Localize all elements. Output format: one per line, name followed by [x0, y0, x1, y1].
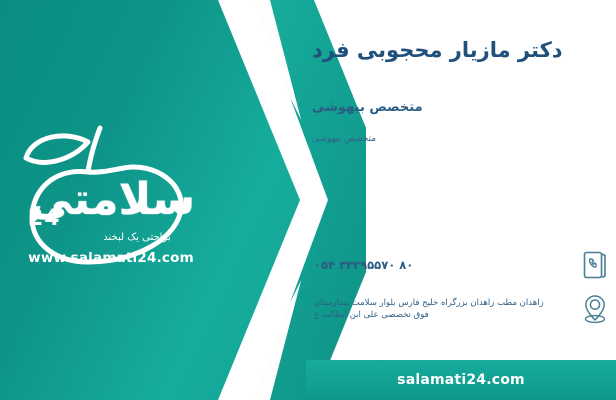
footer-website[interactable]: salamati24.com	[397, 372, 525, 388]
address-line-2: فوق تخصصی علی ابن ابطالب ع	[314, 309, 572, 322]
phone-number: ۸۰ ۳۳۲۹۵۵۷۰ ۰۵۴	[314, 258, 572, 272]
logo-tagline: براحتی یک لبخند	[62, 232, 212, 243]
contact-row-address[interactable]: زاهدان مطب زاهدان بزرگراه خلیج فارس بلوا…	[300, 292, 616, 326]
specialty-primary: متخصص بیهوشی	[312, 100, 602, 115]
location-pin-icon	[578, 292, 612, 326]
contact-block: ۸۰ ۳۳۲۹۵۵۷۰ ۰۵۴ زاهدان مطب زاهدان بزرگرا…	[300, 248, 616, 336]
logo-website-url: www.salamati24.com	[16, 250, 206, 266]
address-line-1: زاهدان مطب زاهدان بزرگراه خلیج فارس بلوا…	[314, 297, 572, 310]
logo-brand-number: 24	[28, 206, 61, 231]
footer-bar: salamati24.com	[306, 360, 616, 400]
contact-row-phone[interactable]: ۸۰ ۳۳۲۹۵۵۷۰ ۰۵۴	[300, 248, 616, 282]
specialty-secondary: متخصص بیهوشی	[312, 134, 602, 144]
doctor-name: دکتر مازیار محجوبی فرد	[312, 38, 602, 62]
business-card: سلامتی 24 براحتی یک لبخند www.salamati24…	[0, 0, 616, 400]
phonebook-icon	[578, 248, 612, 282]
